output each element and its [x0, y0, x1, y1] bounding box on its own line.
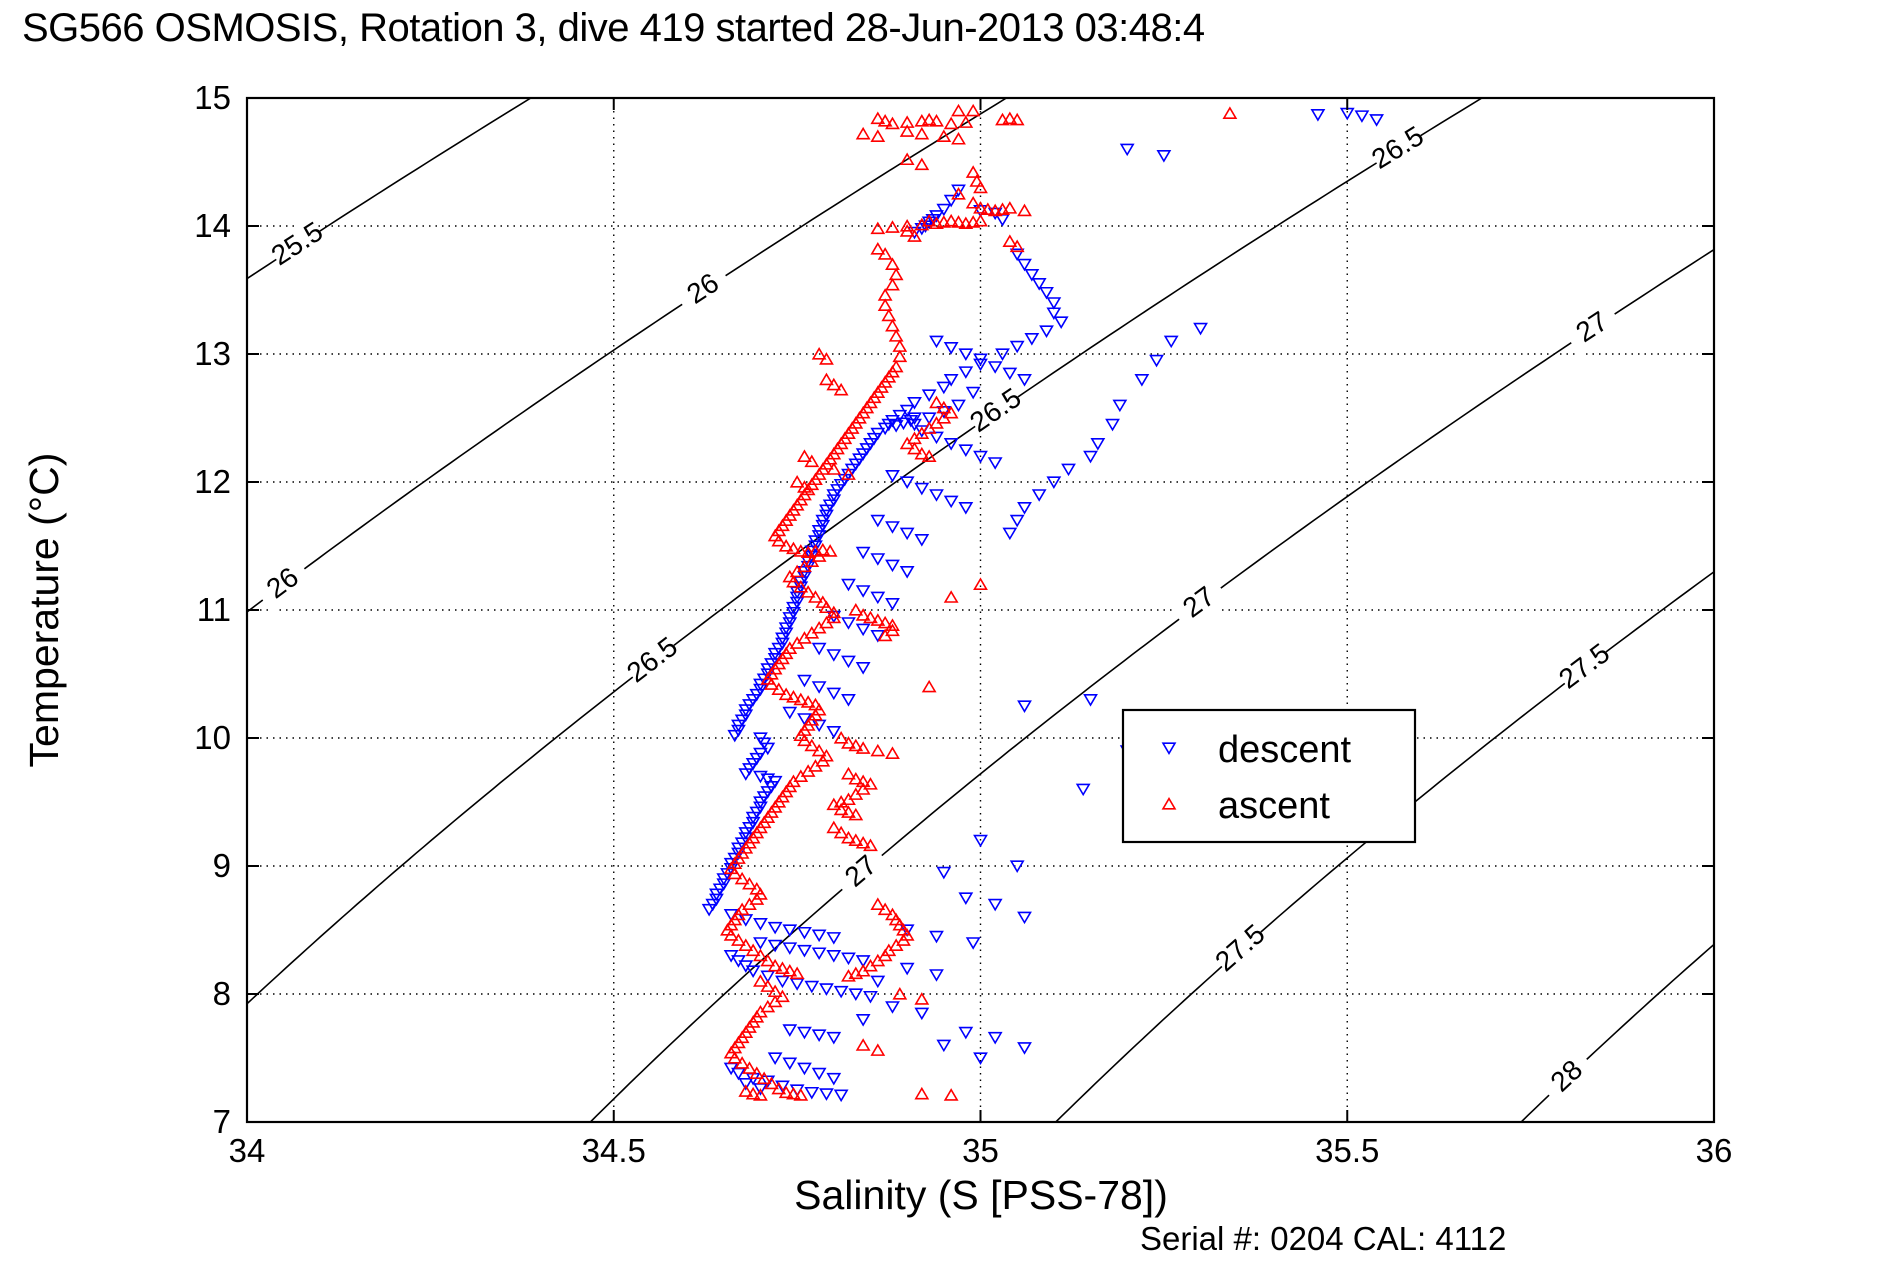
scatter-point-descent	[930, 336, 942, 346]
scatter-point-descent	[857, 586, 869, 596]
scatter-point-ascent	[872, 899, 884, 909]
y-tick-label: 14	[194, 207, 231, 244]
scatter-point-descent	[864, 992, 876, 1002]
scatter-point-descent	[938, 205, 950, 215]
scatter-point-descent	[1092, 439, 1104, 449]
scatter-point-descent	[938, 382, 950, 392]
scatter-point-descent	[930, 932, 942, 942]
scatter-point-descent	[1121, 144, 1133, 154]
scatter-point-ascent	[916, 994, 928, 1004]
scatter-point-descent	[769, 1053, 781, 1063]
scatter-point-descent	[1004, 528, 1016, 538]
scatter-point-descent	[754, 919, 766, 929]
scatter-point-descent	[1048, 298, 1060, 308]
scatter-point-descent	[784, 943, 796, 953]
scatter-point-descent	[1158, 151, 1170, 161]
scatter-point-ascent	[798, 451, 810, 461]
scatter-point-ascent	[960, 117, 972, 127]
scatter-point-descent	[945, 343, 957, 353]
scatter-point-descent	[1019, 503, 1031, 513]
scatter-point-descent	[1063, 464, 1075, 474]
scatter-point-ascent	[886, 222, 898, 232]
scatter-point-descent	[960, 893, 972, 903]
scatter-point-descent	[1019, 701, 1031, 711]
scatter-point-descent	[930, 970, 942, 980]
scatter-point-descent	[828, 933, 840, 943]
scatter-point-descent	[938, 868, 950, 878]
scatter-point-descent	[916, 1008, 928, 1018]
scatter-point-ascent	[791, 477, 803, 487]
chart-container: 25.5262626.526.526.527272727.527.528 343…	[0, 0, 1891, 1262]
scatter-point-descent	[908, 398, 920, 408]
scatter-point-descent	[813, 1030, 825, 1040]
scatter-point-descent	[938, 1040, 950, 1050]
legend-label-ascent[interactable]: ascent	[1218, 785, 1330, 827]
scatter-point-descent	[1085, 452, 1097, 462]
y-axis-label: Temperature (°C)	[21, 453, 67, 768]
scatter-point-descent	[798, 1063, 810, 1073]
scatter-point-descent	[1041, 326, 1053, 336]
scatter-point-ascent	[967, 167, 979, 177]
scatter-point-descent	[1107, 420, 1119, 430]
scatter-point-descent	[1026, 334, 1038, 344]
scatter-point-ascent	[894, 351, 906, 361]
scatter-point-descent	[857, 663, 869, 673]
scatter-point-descent	[798, 1028, 810, 1038]
scatter-point-ascent	[952, 105, 964, 115]
scatter-point-descent	[769, 923, 781, 933]
scatter-point-ascent	[945, 592, 957, 602]
scatter-point-descent	[901, 528, 913, 538]
scatter-point-descent	[923, 390, 935, 400]
scatter-point-descent	[1356, 111, 1368, 121]
scatter-point-descent	[842, 580, 854, 590]
scatter-descent[interactable]	[703, 109, 1382, 1101]
scatter-point-descent	[967, 388, 979, 398]
scatter-point-descent	[857, 624, 869, 634]
scatter-point-descent	[872, 554, 884, 564]
scatter-point-descent	[960, 1028, 972, 1038]
scatter-point-ascent	[872, 745, 884, 755]
scatter-point-descent	[960, 445, 972, 455]
scatter-point-ascent	[872, 223, 884, 233]
scatter-point-descent	[916, 535, 928, 545]
scatter-point-ascent	[842, 768, 854, 778]
scatter-point-descent	[960, 367, 972, 377]
scatter-point-descent	[1019, 375, 1031, 385]
scatter-point-ascent	[967, 105, 979, 115]
scatter-point-descent	[806, 982, 818, 992]
y-tick-label: 10	[194, 719, 231, 756]
legend-label-descent[interactable]: descent	[1218, 729, 1352, 771]
scatter-point-descent	[813, 930, 825, 940]
scatter-point-ascent	[916, 1088, 928, 1098]
x-tick-label: 35	[962, 1132, 999, 1169]
scatter-point-descent	[967, 938, 979, 948]
scatter-point-ascent	[967, 198, 979, 208]
scatter-point-descent	[886, 471, 898, 481]
scatter-point-descent	[886, 522, 898, 532]
scatter-point-descent	[784, 708, 796, 718]
scatter-point-descent	[1011, 342, 1023, 352]
x-tick-label: 34	[229, 1132, 266, 1169]
scatter-point-descent	[828, 951, 840, 961]
scatter-point-descent	[1019, 260, 1031, 270]
scatter-point-ascent	[872, 131, 884, 141]
scatter-point-descent	[828, 650, 840, 660]
scatter-point-descent	[945, 496, 957, 506]
scatter-point-descent	[798, 928, 810, 938]
scatter-point-descent	[901, 567, 913, 577]
serial-cal-footnote: Serial #: 0204 CAL: 4112	[1140, 1220, 1506, 1257]
scatter-point-ascent	[886, 279, 898, 289]
scatter-point-descent	[952, 400, 964, 410]
scatter-point-ascent	[886, 259, 898, 269]
scatter-point-descent	[960, 503, 972, 513]
scatter-point-descent	[901, 964, 913, 974]
scatter-point-descent	[952, 185, 964, 195]
scatter-point-descent	[989, 458, 1001, 468]
scatter-point-descent	[1136, 375, 1148, 385]
plot-frame	[247, 98, 1714, 1122]
legend-box[interactable]: descentascent	[1123, 710, 1415, 842]
scatter-point-descent	[857, 1015, 869, 1025]
scatter-point-ascent	[857, 128, 869, 138]
scatter-point-descent	[872, 516, 884, 526]
scatter-point-descent	[806, 1088, 818, 1098]
scatter-point-descent	[798, 676, 810, 686]
scatter-point-descent	[886, 1002, 898, 1012]
scatter-point-ascent	[883, 310, 895, 320]
scatter-point-ascent	[975, 182, 987, 192]
scatter-point-descent	[945, 375, 957, 385]
scatter-point-ascent	[886, 748, 898, 758]
scatter-point-descent	[872, 976, 884, 986]
scatter-point-descent	[813, 682, 825, 692]
y-tick-label: 13	[194, 335, 231, 372]
scatter-point-descent	[1019, 912, 1031, 922]
scatter-point-descent	[1033, 490, 1045, 500]
scatter-point-descent	[1165, 336, 1177, 346]
scatter-point-descent	[1371, 115, 1383, 125]
contour-labels: 25.5262626.526.526.527272727.527.528	[253, 120, 1624, 1107]
y-tick-label: 12	[194, 463, 231, 500]
scatter-point-ascent	[1019, 205, 1031, 215]
y-tick-labels: 789101112131415	[194, 79, 231, 1140]
gridlines	[247, 98, 1714, 1122]
scatter-point-ascent	[923, 681, 935, 691]
scatter-point-descent	[989, 1033, 1001, 1043]
scatter-point-descent	[1011, 516, 1023, 526]
scatter-point-descent	[842, 953, 854, 963]
scatter-point-ascent	[916, 159, 928, 169]
scatter-point-descent	[835, 1090, 847, 1100]
scatter-point-descent	[740, 1079, 752, 1089]
scatter-point-descent	[997, 215, 1009, 225]
scatter-point-descent	[886, 599, 898, 609]
scatter-point-descent	[828, 1033, 840, 1043]
scatter-point-ascent	[945, 1090, 957, 1100]
scatter-point-descent	[791, 979, 803, 989]
scatter-point-descent	[872, 592, 884, 602]
scatter-point-descent	[828, 688, 840, 698]
ts-diagram-svg: 25.5262626.526.526.527272727.527.528 343…	[0, 0, 1891, 1262]
scatter-point-ascent	[872, 1045, 884, 1055]
scatter-point-descent	[857, 548, 869, 558]
scatter-point-descent	[842, 618, 854, 628]
scatter-point-descent	[930, 432, 942, 442]
x-tick-label: 34.5	[582, 1132, 646, 1169]
scatter-point-descent	[1055, 317, 1067, 327]
scatter-point-descent	[975, 836, 987, 846]
axis-ticks	[247, 98, 1714, 1122]
scatter-point-ascent	[945, 118, 957, 128]
scatter-point-ascent	[930, 397, 942, 407]
scatter-point-descent	[784, 1058, 796, 1068]
scatter-point-ascent	[975, 579, 987, 589]
y-tick-label: 7	[213, 1103, 231, 1140]
y-tick-label: 15	[194, 79, 231, 116]
scatter-point-descent	[769, 941, 781, 951]
y-tick-label: 11	[197, 591, 231, 628]
x-tick-label: 35.5	[1315, 1132, 1379, 1169]
y-tick-label: 8	[213, 975, 231, 1012]
scatter-point-ascent	[890, 269, 902, 279]
scatter-point-descent	[813, 948, 825, 958]
scatter-point-descent	[1041, 288, 1053, 298]
x-tick-label: 36	[1696, 1132, 1733, 1169]
scatter-point-descent	[820, 1089, 832, 1099]
scatter-point-descent	[989, 362, 1001, 372]
scatter-point-descent	[997, 349, 1009, 359]
scatter-point-descent	[1195, 324, 1207, 334]
scatter-point-descent	[842, 656, 854, 666]
scatter-point-descent	[1004, 368, 1016, 378]
scatter-point-ascent	[952, 189, 964, 199]
scatter-point-ascent	[886, 320, 898, 330]
scatter-point-descent	[813, 1069, 825, 1079]
scatter-point-descent	[989, 900, 1001, 910]
scatter-point-ascent	[872, 244, 884, 254]
scatter-point-descent	[1151, 356, 1163, 366]
scatter-point-ascent	[820, 374, 832, 384]
scatter-point-descent	[820, 984, 832, 994]
scatter-point-descent	[828, 1074, 840, 1084]
scatter-point-descent	[916, 484, 928, 494]
scatter-point-descent	[1312, 110, 1324, 120]
x-tick-labels: 3434.53535.536	[229, 1132, 1733, 1169]
scatter-point-descent	[1341, 109, 1353, 119]
scatter-point-descent	[798, 946, 810, 956]
scatter-point-descent	[930, 490, 942, 500]
scatter-point-descent	[1114, 400, 1126, 410]
scatter-point-ascent	[1004, 236, 1016, 246]
scatter-point-ascent	[879, 300, 891, 310]
scatter-point-descent	[784, 925, 796, 935]
scatter-point-descent	[813, 644, 825, 654]
scatter-point-descent	[1077, 784, 1089, 794]
scatter-point-descent	[886, 560, 898, 570]
scatter-point-descent	[960, 349, 972, 359]
scatter-point-descent	[828, 727, 840, 737]
scatter-point-descent	[842, 695, 854, 705]
scatter-point-descent	[1085, 695, 1097, 705]
scatter-point-ascent	[1224, 108, 1236, 118]
scatter-point-descent	[776, 976, 788, 986]
scatter-point-ascent	[857, 1040, 869, 1050]
scatter-point-ascent	[828, 822, 840, 832]
scatter-point-ascent	[952, 134, 964, 144]
scatter-point-descent	[784, 1025, 796, 1035]
scatter-point-descent	[754, 938, 766, 948]
scatter-point-ascent	[890, 331, 902, 341]
x-axis-label: Salinity (S [PSS-78])	[794, 1172, 1168, 1218]
scatter-point-descent	[1019, 1043, 1031, 1053]
scatter-point-descent	[835, 987, 847, 997]
scatter-point-ascent	[916, 128, 928, 138]
y-tick-label: 9	[213, 847, 231, 884]
